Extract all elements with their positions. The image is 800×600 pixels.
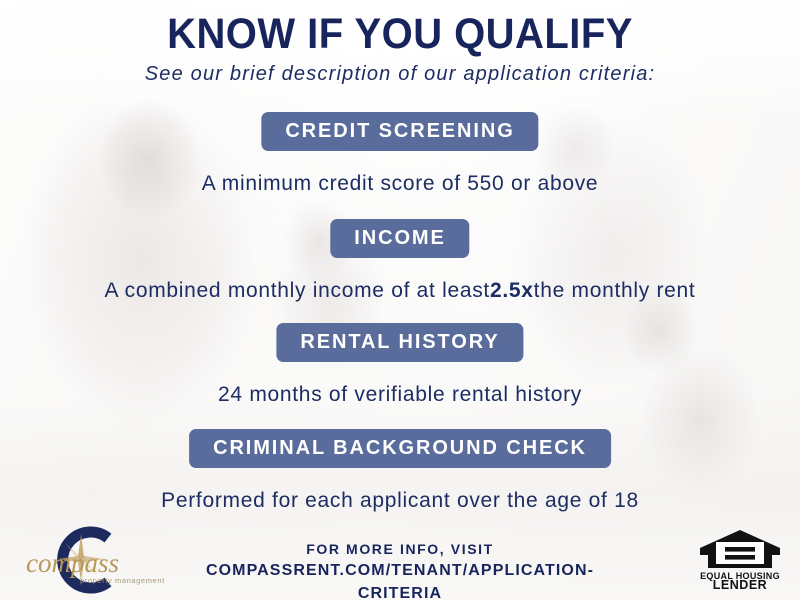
footer-cta: FOR MORE INFO, VISIT COMPASSRENT.COM/TEN… <box>200 539 600 600</box>
footer-url-line[interactable]: COMPASSRENT.COM/TENANT/APPLICATION-CRITE… <box>200 559 600 600</box>
criteria-text-part-before: 24 months of verifiable rental history <box>218 383 582 406</box>
compass-wordmark: compass <box>26 548 119 578</box>
equal-housing-lender-logo: EQUAL HOUSING LENDER <box>694 528 786 590</box>
criteria-text-part-before: A minimum credit score of 550 or above <box>202 172 599 195</box>
badge-income: INCOME <box>330 219 469 258</box>
poster-content: KNOW IF YOU QUALIFY See our brief descri… <box>0 0 800 600</box>
criteria-text-income: A combined monthly income of at least2.5… <box>0 279 800 303</box>
equal-housing-house-icon <box>700 530 780 568</box>
qualification-criteria-poster: KNOW IF YOU QUALIFY See our brief descri… <box>0 0 800 600</box>
criteria-text-criminal-background-check: Performed for each applicant over the ag… <box>0 489 800 513</box>
page-subtitle: See our brief description of our applica… <box>0 63 800 86</box>
page-title: KNOW IF YOU QUALIFY <box>28 10 772 59</box>
badge-criminal-background-check: CRIMINAL BACKGROUND CHECK <box>189 429 611 468</box>
footer-cta-line: FOR MORE INFO, VISIT <box>200 539 600 559</box>
criteria-text-part-before: Performed for each applicant over the ag… <box>161 489 639 512</box>
badge-rental-history: RENTAL HISTORY <box>276 323 523 362</box>
criteria-text-part-bold: 2.5x <box>490 279 534 302</box>
criteria-text-rental-history: 24 months of verifiable rental history <box>0 383 800 407</box>
criteria-text-part-after: the monthly rent <box>534 279 696 302</box>
equal-housing-logo-svg: EQUAL HOUSING LENDER <box>694 528 786 590</box>
criteria-text-part-before: A combined monthly income of at least <box>105 279 490 302</box>
compass-logo-svg: compass property management <box>22 524 187 596</box>
badge-credit-screening: CREDIT SCREENING <box>261 112 538 151</box>
criteria-text-credit-screening: A minimum credit score of 550 or above <box>0 172 800 196</box>
equal-housing-line2: LENDER <box>713 578 767 590</box>
compass-property-management-logo: compass property management <box>22 524 187 596</box>
compass-tagline: property management <box>80 576 165 585</box>
